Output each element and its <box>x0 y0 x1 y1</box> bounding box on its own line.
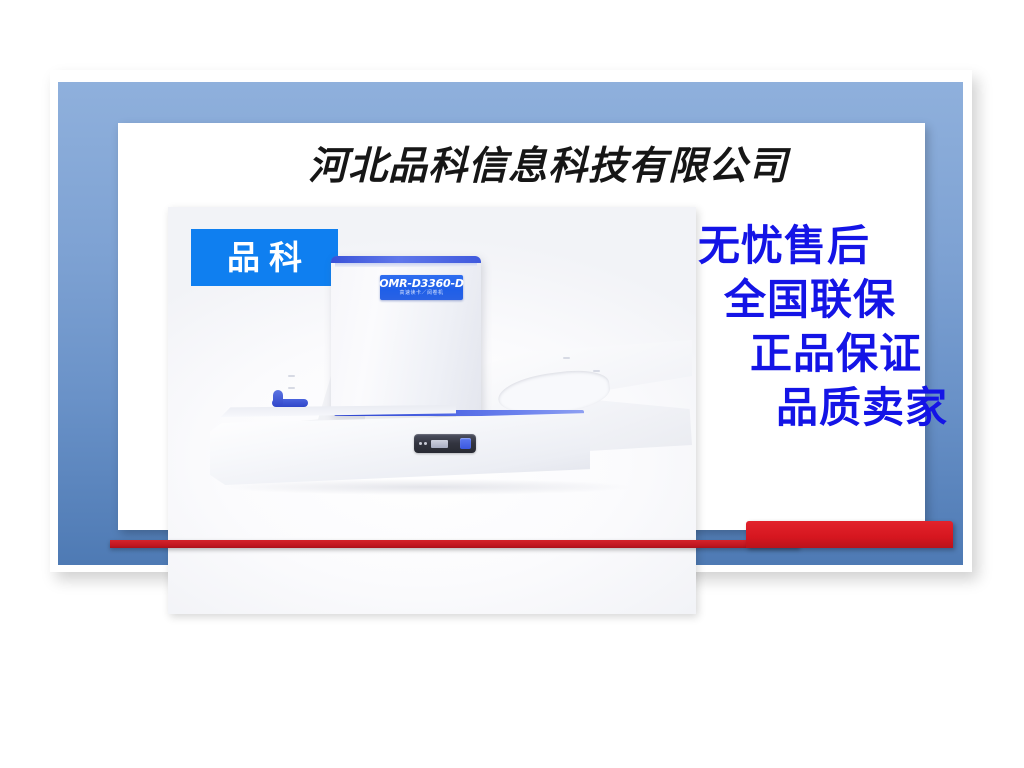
blue-gradient-frame: 河北品科信息科技有限公司 品科 OMR-D3360 <box>58 82 963 565</box>
selling-point-4: 品质卖家 <box>698 381 988 435</box>
vent-mark <box>593 370 600 372</box>
selling-point-3: 正品保证 <box>698 327 988 381</box>
guide-lever-knob <box>273 390 283 406</box>
model-label-plate: OMR-D3360-D 高速读卡／阅卷机 <box>380 275 463 300</box>
selling-point-1: 无忧售后 <box>698 219 988 273</box>
scanner-top-blue-trim <box>331 256 481 263</box>
omr-scanner-illustration: OMR-D3360-D 高速读卡／阅卷机 <box>168 207 696 614</box>
vent-mark <box>563 357 570 359</box>
selling-point-2: 全国联保 <box>698 273 988 327</box>
control-panel-display <box>431 440 448 448</box>
vent-mark <box>288 375 295 377</box>
control-panel <box>414 434 476 453</box>
company-title: 河北品科信息科技有限公司 <box>238 145 858 189</box>
selling-points-list: 无忧售后 全国联保 正品保证 品质卖家 <box>698 219 988 435</box>
red-accent-band-thin <box>110 540 800 548</box>
scanner-base-chassis <box>210 413 590 485</box>
scanner-top-edge <box>335 263 477 267</box>
model-label-text: OMR-D3360-D <box>379 278 464 290</box>
product-banner-card: 河北品科信息科技有限公司 品科 OMR-D3360 <box>50 70 972 572</box>
status-indicator-lights <box>419 442 427 445</box>
red-accent-band-thick <box>746 521 953 548</box>
product-photo-box: 品科 OMR-D3360-D 高速读卡／阅卷机 <box>168 207 696 614</box>
white-content-panel: 河北品科信息科技有限公司 品科 OMR-D3360 <box>118 123 925 530</box>
vent-mark <box>288 387 295 389</box>
paper-guide-lever <box>272 390 308 410</box>
control-panel-button <box>460 438 471 449</box>
indicator-dot <box>424 442 427 445</box>
indicator-dot <box>419 442 422 445</box>
model-sublabel-text: 高速读卡／阅卷机 <box>399 290 443 297</box>
